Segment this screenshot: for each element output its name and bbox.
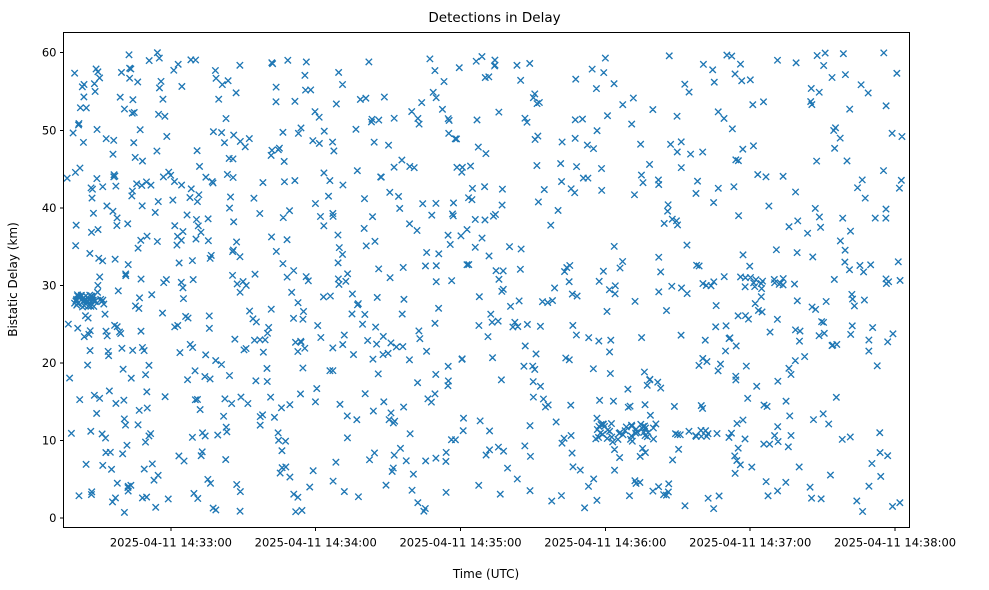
- matplotlib-figure: 2025-04-11 14:33:002025-04-11 14:34:0020…: [0, 0, 989, 590]
- x-tick-label: 2025-04-11 14:35:00: [399, 536, 521, 550]
- x-tick-label: 2025-04-11 14:37:00: [689, 536, 811, 550]
- x-tick-label: 2025-04-11 14:38:00: [834, 536, 956, 550]
- y-tick-label: 10: [42, 434, 57, 448]
- x-tick-label: 2025-04-11 14:33:00: [110, 536, 232, 550]
- y-tick-label: 30: [42, 278, 57, 292]
- y-tick-label: 20: [42, 356, 57, 370]
- y-tick-label: 40: [42, 201, 57, 215]
- scatter-chart: 2025-04-11 14:33:002025-04-11 14:34:0020…: [0, 0, 989, 590]
- plot-area: [63, 32, 910, 528]
- y-tick-label: 60: [42, 46, 57, 60]
- x-tick-label: 2025-04-11 14:34:00: [255, 536, 377, 550]
- y-tick-label: 0: [49, 511, 56, 525]
- x-axis-title: Time (UTC): [452, 567, 519, 581]
- x-tick-label: 2025-04-11 14:36:00: [544, 536, 666, 550]
- y-axis-title: Bistatic Delay (km): [6, 222, 20, 337]
- y-tick-label: 50: [42, 123, 57, 137]
- chart-title: Detections in Delay: [428, 10, 560, 26]
